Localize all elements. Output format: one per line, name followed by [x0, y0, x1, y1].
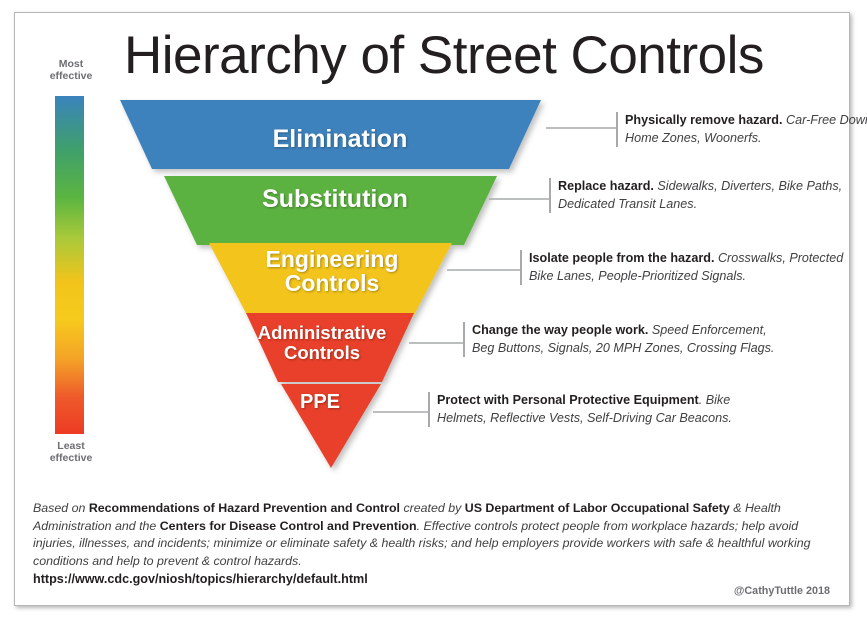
- pyramid-band-administrative-controls: [246, 313, 414, 382]
- footer-part3: created by: [400, 501, 465, 515]
- footer-part4: US Department of Labor Occupational Safe…: [465, 501, 730, 515]
- callout-substitution-bold: Replace hazard.: [558, 179, 654, 193]
- footer-attribution: Based on Recommendations of Hazard Preve…: [33, 500, 833, 589]
- infographic-poster: Hierarchy of Street Controls Most effect…: [0, 0, 867, 620]
- callout-elimination: Physically remove hazard. Car-Free Downt…: [616, 112, 867, 147]
- callout-engineering-controls: Isolate people from the hazard. Crosswal…: [520, 250, 847, 285]
- pyramid-band-elimination: [120, 100, 541, 169]
- callout-elimination-bold: Physically remove hazard.: [625, 113, 783, 127]
- pyramid-band-engineering-controls: [209, 243, 452, 317]
- pyramid-band-ppe: [281, 384, 381, 468]
- author-credit: @CathyTuttle 2018: [640, 585, 830, 597]
- callout-ppe-bold: Protect with Personal Protective Equipme…: [437, 393, 699, 407]
- callout-ppe: Protect with Personal Protective Equipme…: [428, 392, 755, 427]
- callout-administrative-bold: Change the way people work.: [472, 323, 648, 337]
- footer-part2: Recommendations of Hazard Prevention and…: [89, 501, 400, 515]
- footer-part1: Based on: [33, 501, 89, 515]
- callout-engineering-bold: Isolate people from the hazard.: [529, 251, 714, 265]
- callout-administrative-controls: Change the way people work. Speed Enforc…: [463, 322, 790, 357]
- footer-part6: Centers for Disease Control and Preventi…: [160, 519, 417, 533]
- pyramid-band-substitution: [164, 176, 497, 245]
- callout-substitution: Replace hazard. Sidewalks, Diverters, Bi…: [549, 178, 867, 213]
